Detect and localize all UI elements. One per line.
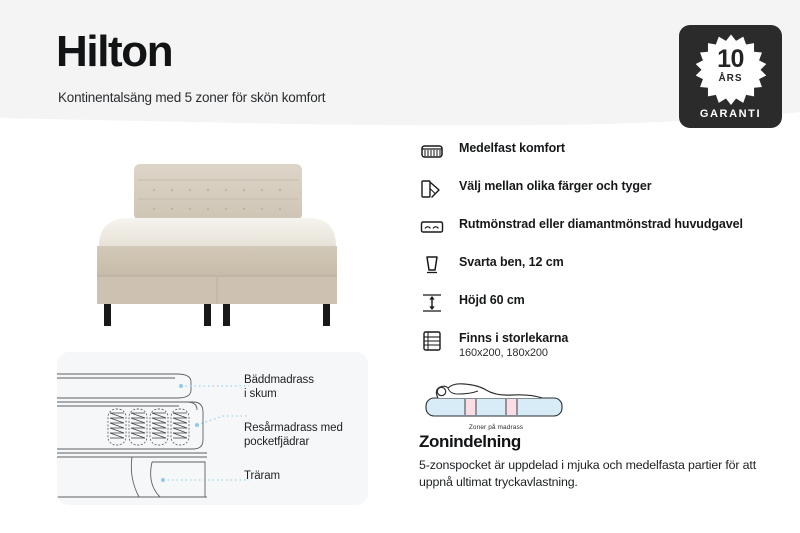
feature-item: Svarta ben, 12 cm [419, 253, 789, 284]
cross-section-label-wooden-frame: Träram [244, 469, 280, 483]
zoning-caption: Zoner på madrass [420, 424, 572, 431]
feature-sublabel: 160x200, 180x200 [459, 347, 548, 359]
page-title: Hilton [56, 30, 172, 74]
feature-item: Rutmönstrad eller diamantmönstrad huvudg… [419, 215, 789, 246]
label-line-2: pocketfjädrar [244, 435, 343, 449]
feature-item: Finns i storlekarna 160x200, 180x200 [419, 329, 789, 360]
zoning-description: 5-zonspocket är uppdelad i mjuka och med… [419, 457, 769, 491]
feature-label: Välj mellan olika färger och tyger [459, 179, 652, 193]
cross-section-label-spring-mattress: Resårmadrass med pocketfjädrar [244, 421, 343, 449]
warranty-years-number: 10 [679, 45, 782, 74]
label-line-1: Träram [244, 469, 280, 483]
zoning-illustration [420, 368, 572, 426]
feature-item: Medelfast komfort [419, 139, 789, 170]
feature-label: Medelfast komfort [459, 141, 565, 155]
feature-item: Välj mellan olika färger och tyger [419, 177, 789, 208]
fabric-swatch-icon [419, 177, 445, 201]
warranty-years-label: ÅRS [679, 73, 782, 84]
page-subtitle: Kontinentalsäng med 5 zoner för skön kom… [58, 90, 325, 105]
feature-label: Rutmönstrad eller diamantmönstrad huvudg… [459, 217, 743, 231]
headboard-icon [419, 215, 445, 239]
bed-leg-icon [419, 253, 445, 277]
label-line-2: i skum [244, 387, 314, 401]
bed-size-icon [419, 329, 445, 353]
warranty-word: GARANTI [679, 108, 782, 120]
warranty-badge: 10 ÅRS GARANTI [679, 25, 782, 128]
cross-section-label-topper: Bäddmadrass i skum [244, 373, 314, 401]
height-arrow-icon [419, 291, 445, 315]
feature-label: Finns i storlekarna [459, 331, 568, 345]
feature-list: Medelfast komfort Välj mellan olika färg… [419, 139, 789, 367]
label-line-1: Resårmadrass med [244, 421, 343, 435]
product-infographic: Hilton Kontinentalsäng med 5 zoner för s… [0, 0, 800, 533]
product-bed-image [72, 142, 362, 332]
feature-item: Höjd 60 cm [419, 291, 789, 322]
mattress-firmness-icon [419, 139, 445, 163]
zoning-title: Zonindelning [419, 432, 521, 452]
label-line-1: Bäddmadrass [244, 373, 314, 387]
feature-label: Höjd 60 cm [459, 293, 525, 307]
feature-label: Svarta ben, 12 cm [459, 255, 564, 269]
